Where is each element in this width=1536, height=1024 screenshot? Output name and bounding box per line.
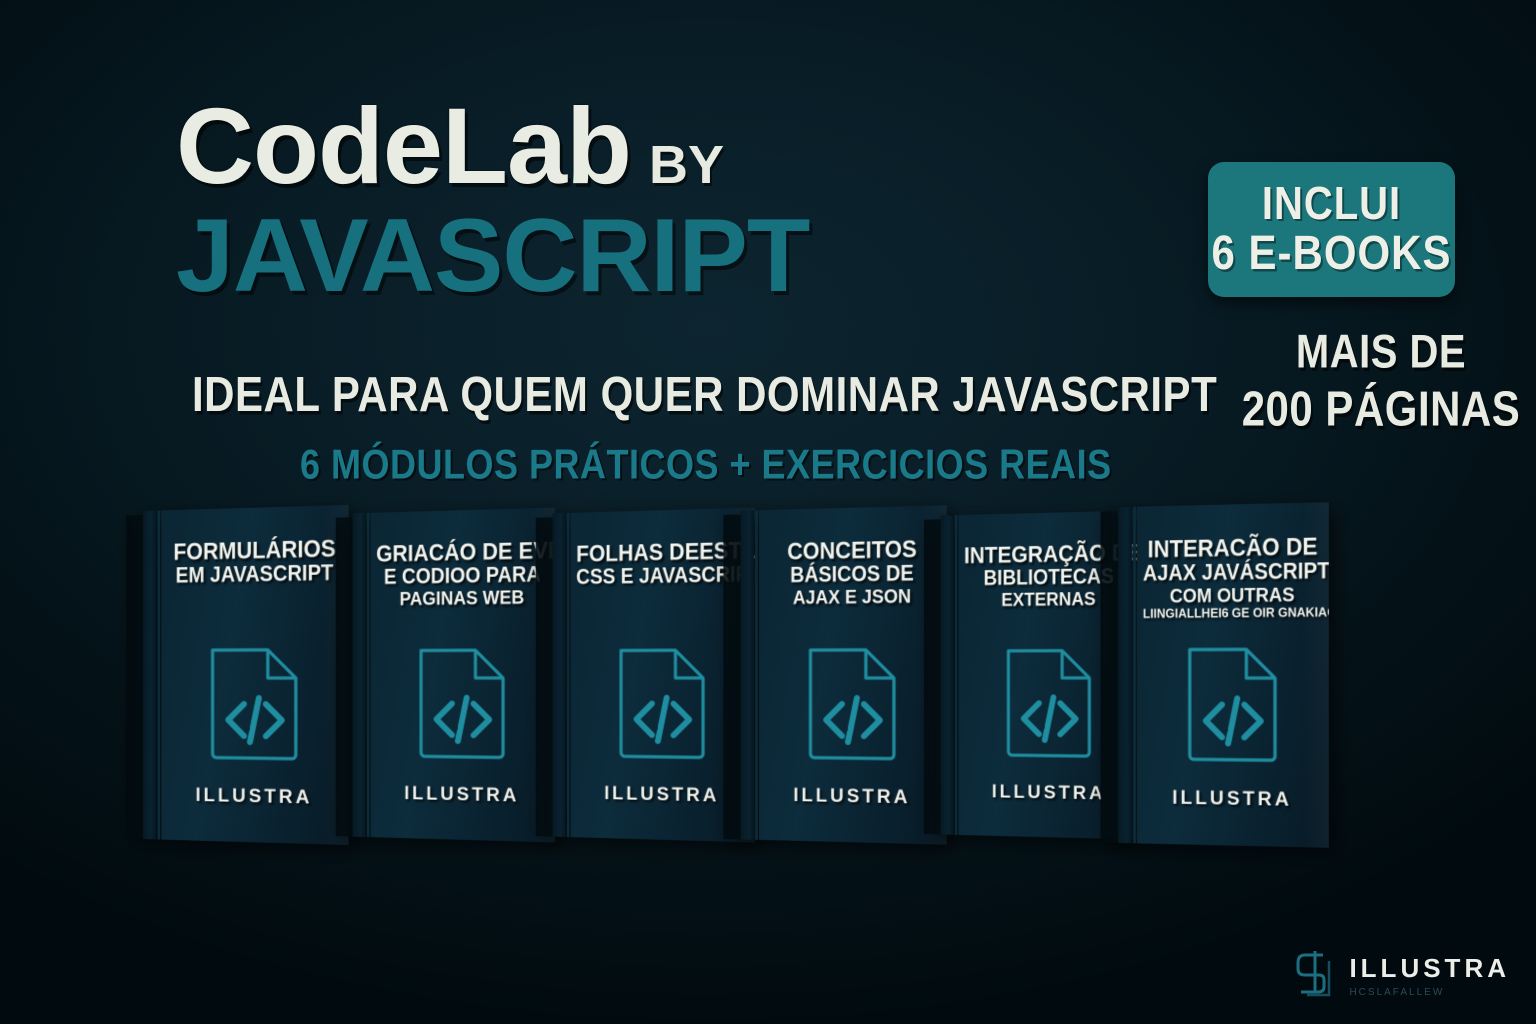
code-document-icon xyxy=(1004,647,1093,765)
code-document-icon xyxy=(806,646,897,768)
ebook-title: CONCEITOSBÁSICOS DEAJAX E JSON xyxy=(759,536,947,609)
ebook-spine-line xyxy=(755,510,758,840)
ebook-front-cover[interactable]: GRIACÁO DE EVENTOSE CODIOO PARAPAGINAS W… xyxy=(370,508,555,843)
ebook-spine-line xyxy=(157,510,160,839)
ebook-brand: ILLUSTRA xyxy=(370,783,555,809)
code-document-icon xyxy=(617,646,707,766)
ebook-title-line: PAGINAS WEB xyxy=(376,585,549,610)
ebook-front-cover[interactable]: INTERACÃO DEAJAX JAVÁSCRIPTCOM OUTRASLII… xyxy=(1137,502,1329,848)
promo-banner: CodeLab BY JAVASCRIPT IDEAL PARA QUEM QU… xyxy=(0,0,1536,1024)
ebook-spine-line xyxy=(367,513,370,837)
ebook-spine-line xyxy=(955,515,958,835)
ebook-spine xyxy=(143,511,156,840)
ebook-brand: ILLUSTRA xyxy=(1137,787,1329,813)
ebook-spine xyxy=(741,510,754,839)
footer-logo-text: ILLUSTRA HCSLAFALLEW xyxy=(1349,953,1510,998)
footer-logo: ILLUSTRA HCSLAFALLEW xyxy=(1293,949,1510,1002)
ebook-front-cover[interactable]: CONCEITOSBÁSICOS DEAJAX E JSONILLUSTRA xyxy=(759,505,947,844)
ebook-brand: ILLUSTRA xyxy=(161,784,348,810)
ebook-title-line: EM JAVASCRIPT xyxy=(167,560,342,589)
ebook-brand: ILLUSTRA xyxy=(759,785,947,811)
ebook-cover-1[interactable]: FORMULÁRIOSEM JAVASCRIPTILLUSTRA xyxy=(143,505,349,845)
ebook-spine xyxy=(941,515,954,835)
ebook-cover-6[interactable]: INTERACÃO DEAJAX JAVÁSCRIPTCOM OUTRASLII… xyxy=(1118,502,1329,848)
ebook-title: INTERACÃO DEAJAX JAVÁSCRIPTCOM OUTRASLII… xyxy=(1137,533,1329,621)
ebook-cover-4[interactable]: CONCEITOSBÁSICOS DEAJAX E JSONILLUSTRA xyxy=(741,505,947,844)
ebook-spine xyxy=(353,513,366,837)
illustra-monogram-icon xyxy=(1293,949,1335,1002)
ebook-spine-line xyxy=(1133,507,1136,844)
ebook-spine xyxy=(1118,507,1132,843)
code-document-icon xyxy=(208,646,299,768)
ebook-front-cover[interactable]: FORMULÁRIOSEM JAVASCRIPTILLUSTRA xyxy=(161,505,348,845)
ebook-title-line: LIINGIALLHEI6 GE OIR GNAKIAGKO xyxy=(1143,605,1323,622)
ebook-title: FORMULÁRIOSEM JAVASCRIPT xyxy=(161,535,348,588)
ebook-spine-line xyxy=(567,513,570,837)
ebook-cover-gloss xyxy=(1302,502,1329,848)
ebook-title: GRIACÁO DE EVENTOSE CODIOO PARAPAGINAS W… xyxy=(370,538,555,610)
ebook-cover-2[interactable]: GRIACÁO DE EVENTOSE CODIOO PARAPAGINAS W… xyxy=(353,508,555,843)
footer-logo-word: ILLUSTRA xyxy=(1349,953,1510,984)
ebook-collection: FORMULÁRIOSEM JAVASCRIPTILLUSTRAGRIACÁO … xyxy=(0,0,1536,1024)
code-document-icon xyxy=(1185,645,1278,769)
ebook-spine xyxy=(553,513,566,837)
ebook-title-line: AJAX E JSON xyxy=(765,584,941,609)
code-document-icon xyxy=(417,646,507,766)
footer-logo-subtext: HCSLAFALLEW xyxy=(1349,987,1444,998)
